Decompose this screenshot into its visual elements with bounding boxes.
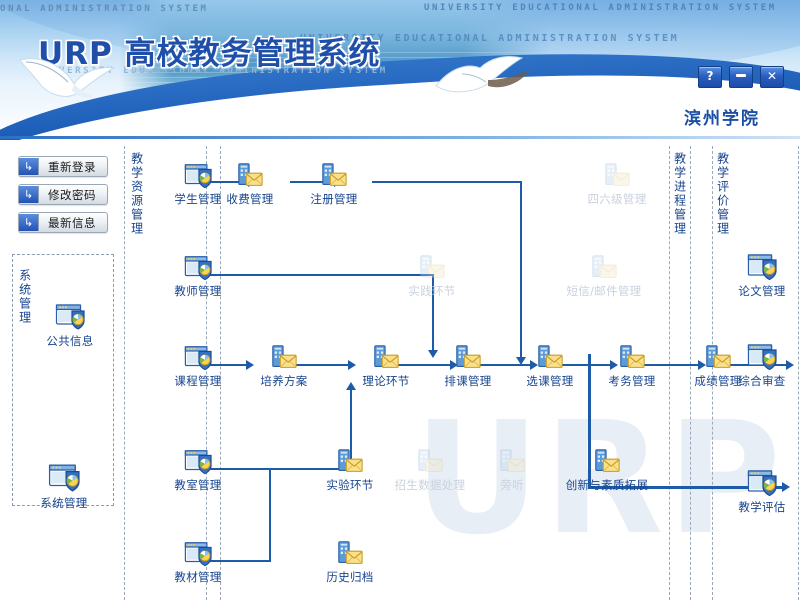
building-envelope-icon — [312, 538, 388, 568]
node-practice-session: 实践环节 — [394, 252, 470, 299]
node-practice-session-label: 实践环节 — [394, 283, 470, 299]
node-sms-email-management: 短信/邮件管理 — [566, 252, 642, 299]
app-header: ATIONAL ADMINISTRATION SYSTEM UNIVERSITY… — [0, 0, 800, 140]
sidebar-button-latest-info-label: 最新信息 — [39, 215, 107, 231]
node-classroom-management-label: 教室管理 — [160, 477, 236, 493]
seagull-icon-left — [18, 50, 128, 114]
node-innovation-quality-development[interactable]: 创新与素质拓展 — [552, 446, 662, 493]
shield-window-icon — [160, 342, 236, 372]
sidebar-item-system-management[interactable]: 系统管理 — [26, 464, 102, 511]
node-theory-session[interactable]: 理论环节 — [348, 342, 424, 389]
node-admission-data-processing-label: 招生数据处理 — [392, 477, 468, 493]
shield-window-icon — [160, 252, 236, 282]
node-exam-management[interactable]: 考务管理 — [594, 342, 670, 389]
workflow-diagram: URP 教学资源管理 教学进程管理 教学评价管理 — [124, 146, 800, 600]
connector-register-down — [520, 181, 522, 359]
close-button[interactable]: ✕ — [760, 66, 784, 88]
node-history-archive[interactable]: 历史归档 — [312, 538, 388, 585]
window-controls[interactable]: ? ✕ — [698, 66, 784, 88]
application-window: ATIONAL ADMINISTRATION SYSTEM UNIVERSITY… — [0, 0, 800, 600]
building-envelope-icon — [212, 160, 288, 190]
node-lab-session[interactable]: 实验环节 — [312, 446, 388, 493]
node-fee-management-label: 收费管理 — [212, 191, 288, 207]
sidebar-button-change-password[interactable]: ↳ 修改密码 — [18, 184, 108, 205]
node-teaching-evaluation-label: 教学评估 — [724, 499, 800, 515]
node-training-plan[interactable]: 培养方案 — [246, 342, 322, 389]
sidebar-item-public-info[interactable]: 公共信息 — [32, 302, 108, 349]
building-envelope-icon — [566, 252, 642, 282]
node-sms-email-management-label: 短信/邮件管理 — [566, 283, 642, 299]
node-course-selection[interactable]: 选课管理 — [512, 342, 588, 389]
school-name: 滨州学院 — [684, 104, 760, 129]
node-teacher-management-label: 教师管理 — [160, 283, 236, 299]
node-register-management-label: 注册管理 — [296, 191, 372, 207]
shield-window-icon — [724, 468, 800, 498]
shield-window-icon — [26, 464, 102, 494]
sidebar-button-change-password-label: 修改密码 — [39, 187, 107, 203]
node-cet-management-label: 四六级管理 — [579, 191, 655, 207]
shield-window-icon — [32, 302, 108, 332]
connector-register-right — [372, 181, 522, 183]
header-ghost-text-top-left: ATIONAL ADMINISTRATION SYSTEM — [0, 4, 209, 14]
header-ghost-text-top-right: UNIVERSITY EDUCATIONAL ADMINISTRATION SY… — [424, 3, 777, 13]
building-envelope-icon — [348, 342, 424, 372]
building-envelope-icon — [246, 342, 322, 372]
node-thesis-management-label: 论文管理 — [724, 283, 800, 299]
node-course-management[interactable]: 课程管理 — [160, 342, 236, 389]
sidebar-button-latest-info[interactable]: ↳ 最新信息 — [18, 212, 108, 233]
node-textbook-management-label: 教材管理 — [160, 569, 236, 585]
node-course-management-label: 课程管理 — [160, 373, 236, 389]
enter-arrow-icon: ↳ — [19, 214, 39, 231]
node-lab-session-label: 实验环节 — [312, 477, 388, 493]
node-history-archive-label: 历史归档 — [312, 569, 388, 585]
building-envelope-icon — [392, 446, 468, 476]
building-envelope-icon — [430, 342, 506, 372]
node-textbook-management[interactable]: 教材管理 — [160, 538, 236, 585]
node-exam-management-label: 考务管理 — [594, 373, 670, 389]
minimize-icon — [736, 74, 746, 77]
node-teaching-evaluation[interactable]: 教学评估 — [724, 468, 800, 515]
node-fee-management[interactable]: 收费管理 — [212, 160, 288, 207]
node-classroom-management[interactable]: 教室管理 — [160, 446, 236, 493]
node-course-selection-label: 选课管理 — [512, 373, 588, 389]
building-envelope-icon — [474, 446, 550, 476]
node-admission-data-processing: 招生数据处理 — [392, 446, 468, 493]
system-management-group-label: 系统管理 — [18, 269, 31, 325]
node-innovation-quality-development-label: 创新与素质拓展 — [552, 477, 662, 493]
node-course-scheduling[interactable]: 排课管理 — [430, 342, 506, 389]
help-button[interactable]: ? — [698, 66, 722, 88]
column-label-teaching-evaluation: 教学评价管理 — [716, 152, 729, 236]
building-envelope-icon — [512, 342, 588, 372]
enter-arrow-icon: ↳ — [19, 186, 39, 203]
node-theory-session-label: 理论环节 — [348, 373, 424, 389]
node-training-plan-label: 培养方案 — [246, 373, 322, 389]
building-envelope-icon — [579, 160, 655, 190]
minimize-button[interactable] — [729, 66, 753, 88]
shield-window-icon — [160, 446, 236, 476]
header-divider-line — [0, 136, 800, 139]
building-envelope-icon — [296, 160, 372, 190]
building-envelope-icon — [594, 342, 670, 372]
column-label-teaching-resources: 教学资源管理 — [130, 152, 143, 236]
connector-junction-vertical — [269, 468, 271, 562]
enter-arrow-icon: ↳ — [19, 158, 39, 175]
building-envelope-icon — [394, 252, 470, 282]
node-comprehensive-review[interactable]: 综合审查 — [724, 342, 800, 389]
node-auditing-label: 旁听 — [474, 477, 550, 493]
building-envelope-icon — [312, 446, 388, 476]
node-teacher-management[interactable]: 教师管理 — [160, 252, 236, 299]
sidebar-item-system-management-label: 系统管理 — [26, 495, 102, 511]
shield-window-icon — [724, 252, 800, 282]
shield-window-icon — [160, 538, 236, 568]
node-register-management[interactable]: 注册管理 — [296, 160, 372, 207]
building-envelope-icon — [552, 446, 662, 476]
node-thesis-management[interactable]: 论文管理 — [724, 252, 800, 299]
sidebar-button-relogin-label: 重新登录 — [39, 159, 107, 175]
column-label-teaching-process: 教学进程管理 — [673, 152, 686, 236]
seagull-icon-right — [432, 52, 536, 108]
node-course-scheduling-label: 排课管理 — [430, 373, 506, 389]
sidebar: ↳ 重新登录 ↳ 修改密码 ↳ 最新信息 系统管理 — [0, 146, 124, 600]
node-cet-management: 四六级管理 — [579, 160, 655, 207]
node-auditing: 旁听 — [474, 446, 550, 493]
shield-window-icon — [724, 342, 800, 372]
sidebar-button-relogin[interactable]: ↳ 重新登录 — [18, 156, 108, 177]
node-comprehensive-review-label: 综合审查 — [724, 373, 800, 389]
sidebar-item-public-info-label: 公共信息 — [32, 333, 108, 349]
column-divider-0 — [124, 146, 125, 600]
